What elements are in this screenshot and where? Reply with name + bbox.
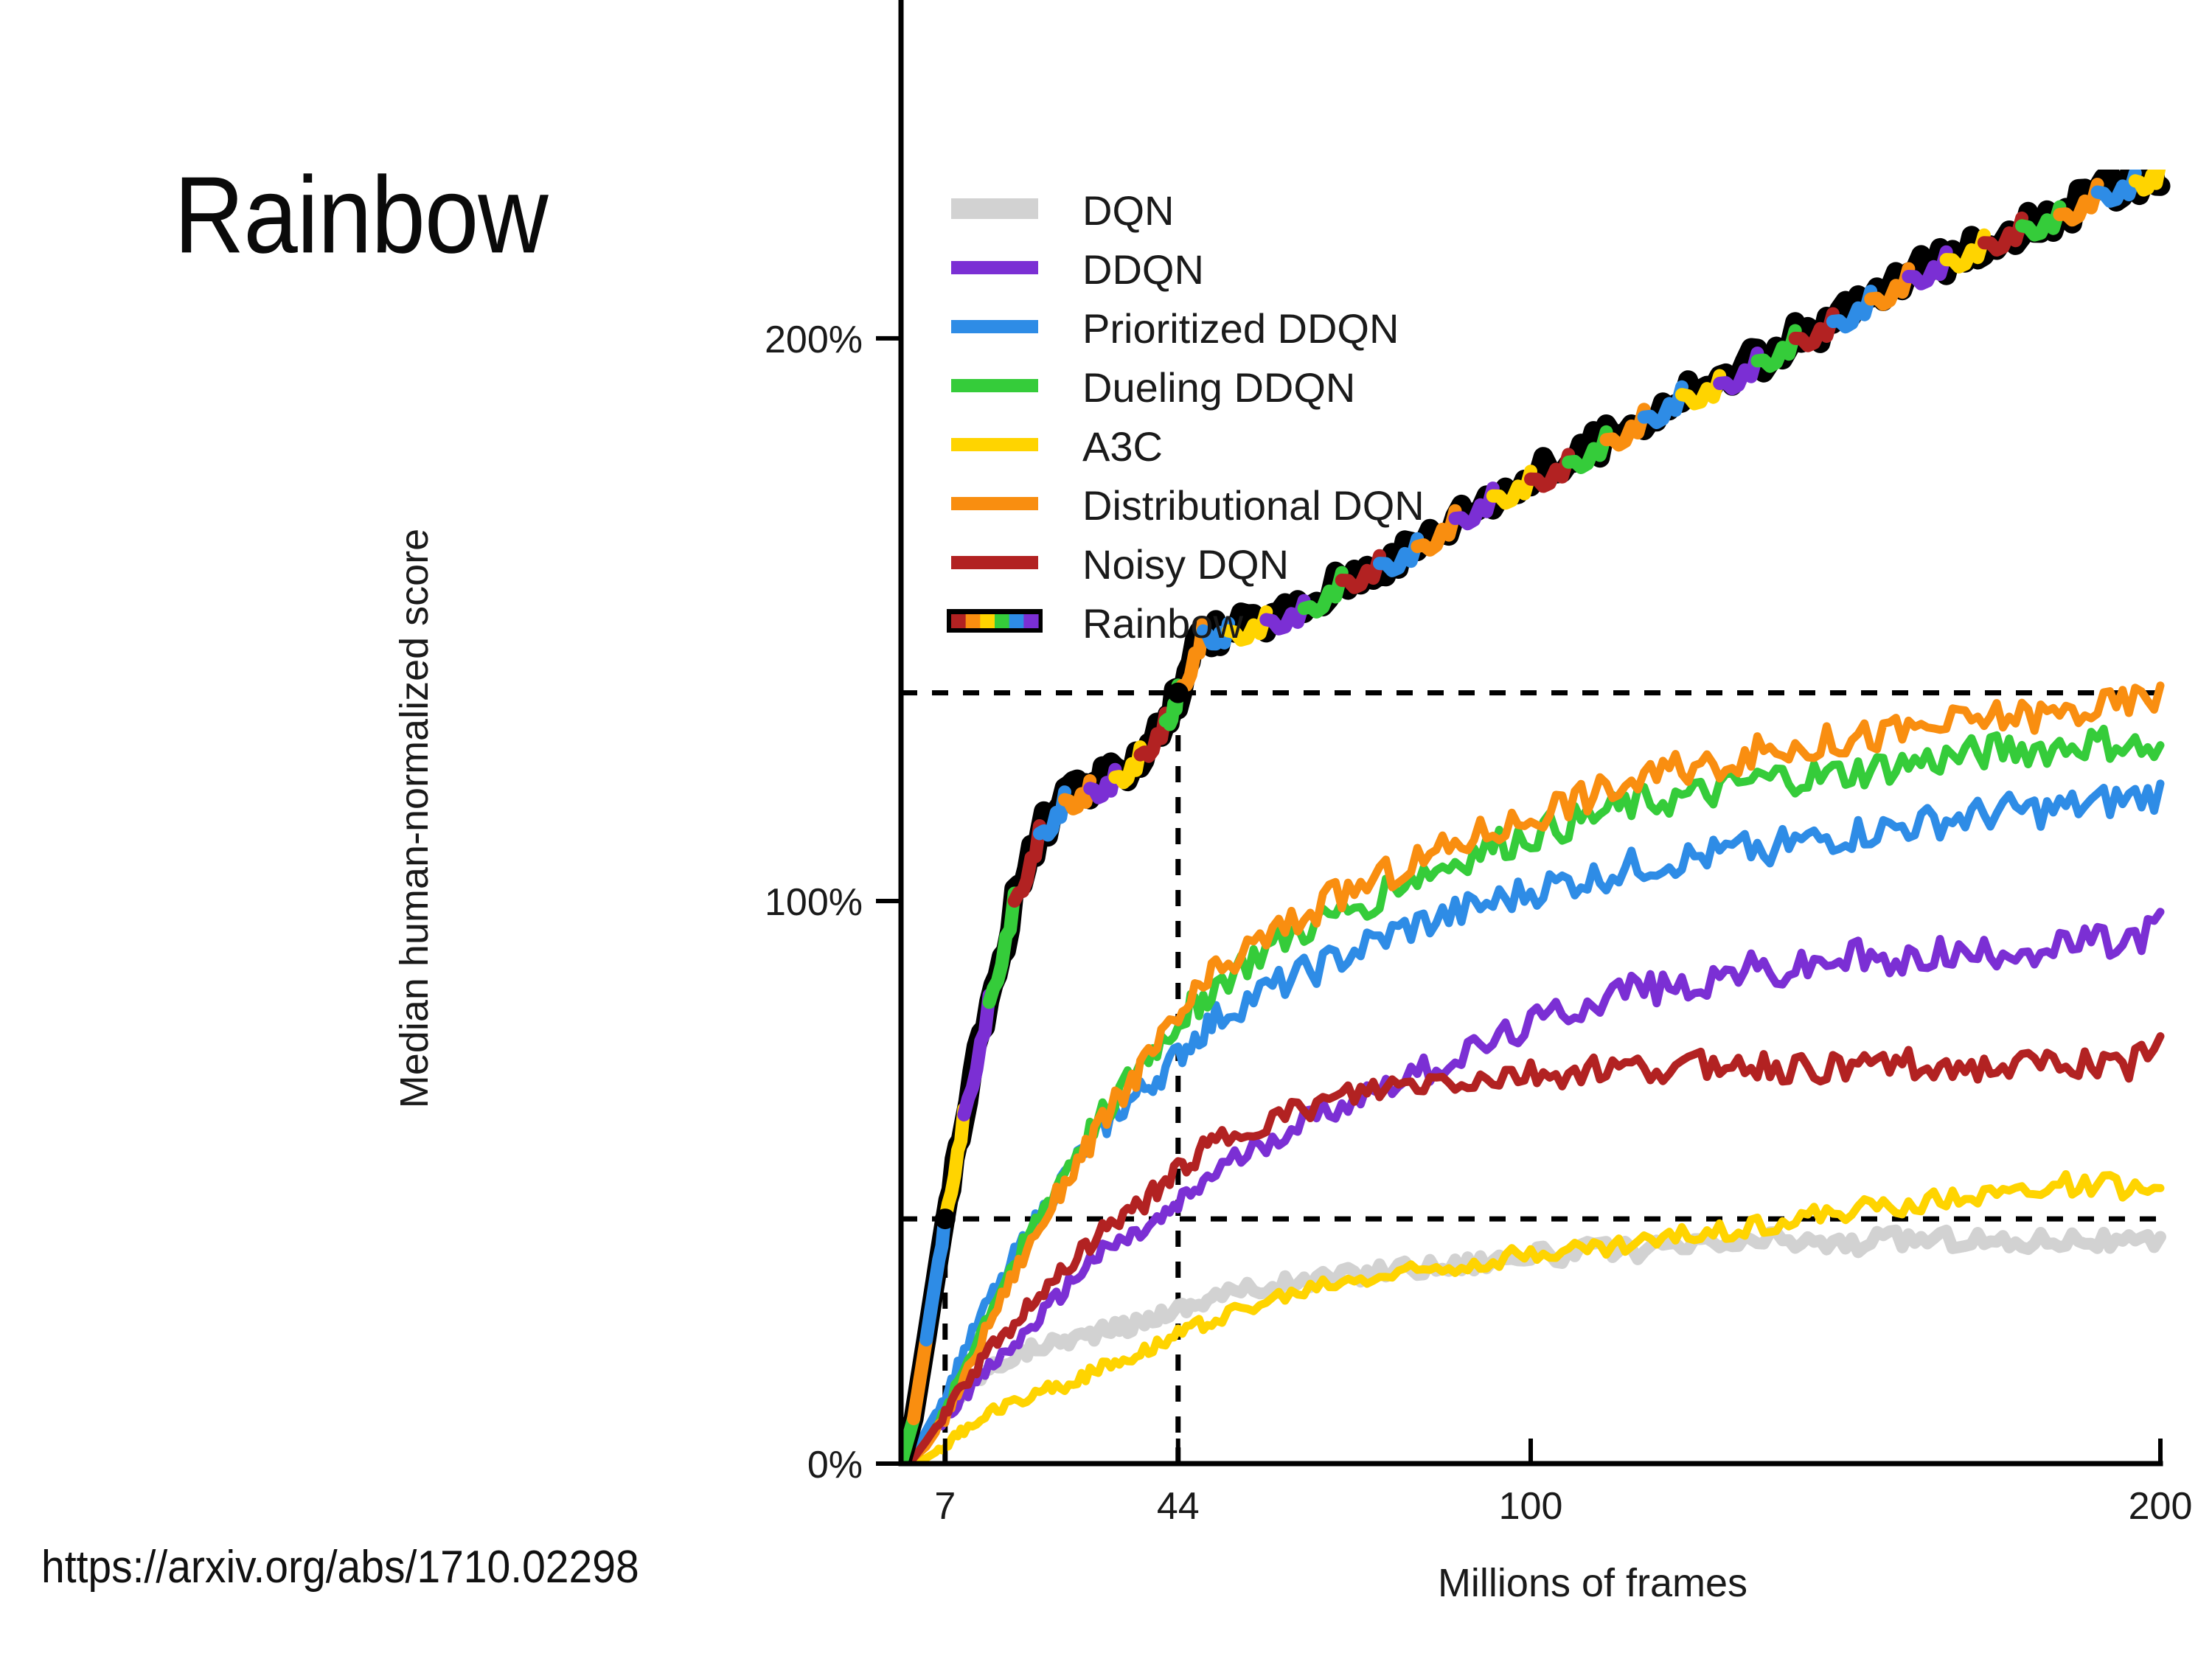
series-dueling-ddqn bbox=[901, 728, 2160, 1464]
series-rainbow-segment bbox=[2135, 162, 2160, 190]
legend-swatch bbox=[951, 198, 1038, 219]
legend-entry: Noisy DQN bbox=[951, 541, 1289, 588]
legend-label: DDQN bbox=[1082, 246, 1204, 293]
rainbow-7m-marker bbox=[935, 1208, 956, 1229]
rainbow-performance-chart: 0%100%200%744100200 DQNDDQNPrioritized D… bbox=[796, 170, 2197, 1556]
legend-label: DQN bbox=[1082, 187, 1174, 234]
legend-swatch bbox=[951, 320, 1038, 333]
legend-label: Rainbow bbox=[1082, 600, 1243, 647]
legend-entry: DQN bbox=[951, 187, 1174, 234]
legend-label: Noisy DQN bbox=[1082, 541, 1289, 588]
legend-label: A3C bbox=[1082, 423, 1163, 470]
legend-entry: A3C bbox=[951, 423, 1163, 470]
legend-label: Dueling DDQN bbox=[1082, 364, 1355, 411]
legend-entry: DDQN bbox=[951, 246, 1204, 293]
legend-swatch-rainbow-seg bbox=[980, 614, 995, 628]
rainbow-44m-marker bbox=[1168, 683, 1189, 703]
legend-label: Distributional DQN bbox=[1082, 482, 1425, 529]
legend-swatch bbox=[951, 379, 1038, 392]
chart-svg: 0%100%200%744100200 DQNDDQNPrioritized D… bbox=[796, 170, 2197, 1556]
legend-entry: Distributional DQN bbox=[951, 482, 1425, 529]
y-tick-label: 0% bbox=[807, 1444, 863, 1486]
x-tick-label: 200 bbox=[2129, 1485, 2193, 1528]
slide-canvas: Rainbow https://arxiv.org/abs/1710.02298… bbox=[0, 0, 2212, 1659]
legend-entry: Prioritized DDQN bbox=[951, 305, 1399, 352]
page-title: Rainbow bbox=[174, 161, 548, 270]
legend-swatch bbox=[951, 438, 1038, 451]
legend-swatch-rainbow-seg bbox=[1009, 614, 1024, 628]
x-tick-label: 100 bbox=[1499, 1485, 1563, 1528]
legend-swatch bbox=[951, 497, 1038, 510]
x-axis-title: Millions of frames bbox=[1438, 1561, 1747, 1605]
y-axis-title: Median human-normalized score bbox=[392, 529, 437, 1108]
series-layer bbox=[901, 158, 2160, 1464]
legend-entry: Rainbow bbox=[947, 600, 1243, 647]
legend-label: Prioritized DDQN bbox=[1082, 305, 1399, 352]
legend-swatch bbox=[951, 261, 1038, 274]
legend-swatch-rainbow-seg bbox=[966, 614, 981, 628]
source-url-text: https://arxiv.org/abs/1710.02298 bbox=[41, 1541, 639, 1593]
y-tick-label: 100% bbox=[765, 881, 863, 924]
legend-swatch bbox=[951, 556, 1038, 569]
legend-swatch-rainbow-seg bbox=[995, 614, 1009, 628]
x-tick-label: 7 bbox=[934, 1485, 956, 1528]
legend-entry: Dueling DDQN bbox=[951, 364, 1355, 411]
y-tick-label: 200% bbox=[765, 319, 863, 361]
series-rainbow-segment bbox=[990, 894, 1015, 1003]
legend-swatch-rainbow-seg bbox=[951, 614, 966, 628]
x-tick-label: 44 bbox=[1157, 1485, 1200, 1528]
legend-swatch-rainbow-seg bbox=[1023, 614, 1038, 628]
